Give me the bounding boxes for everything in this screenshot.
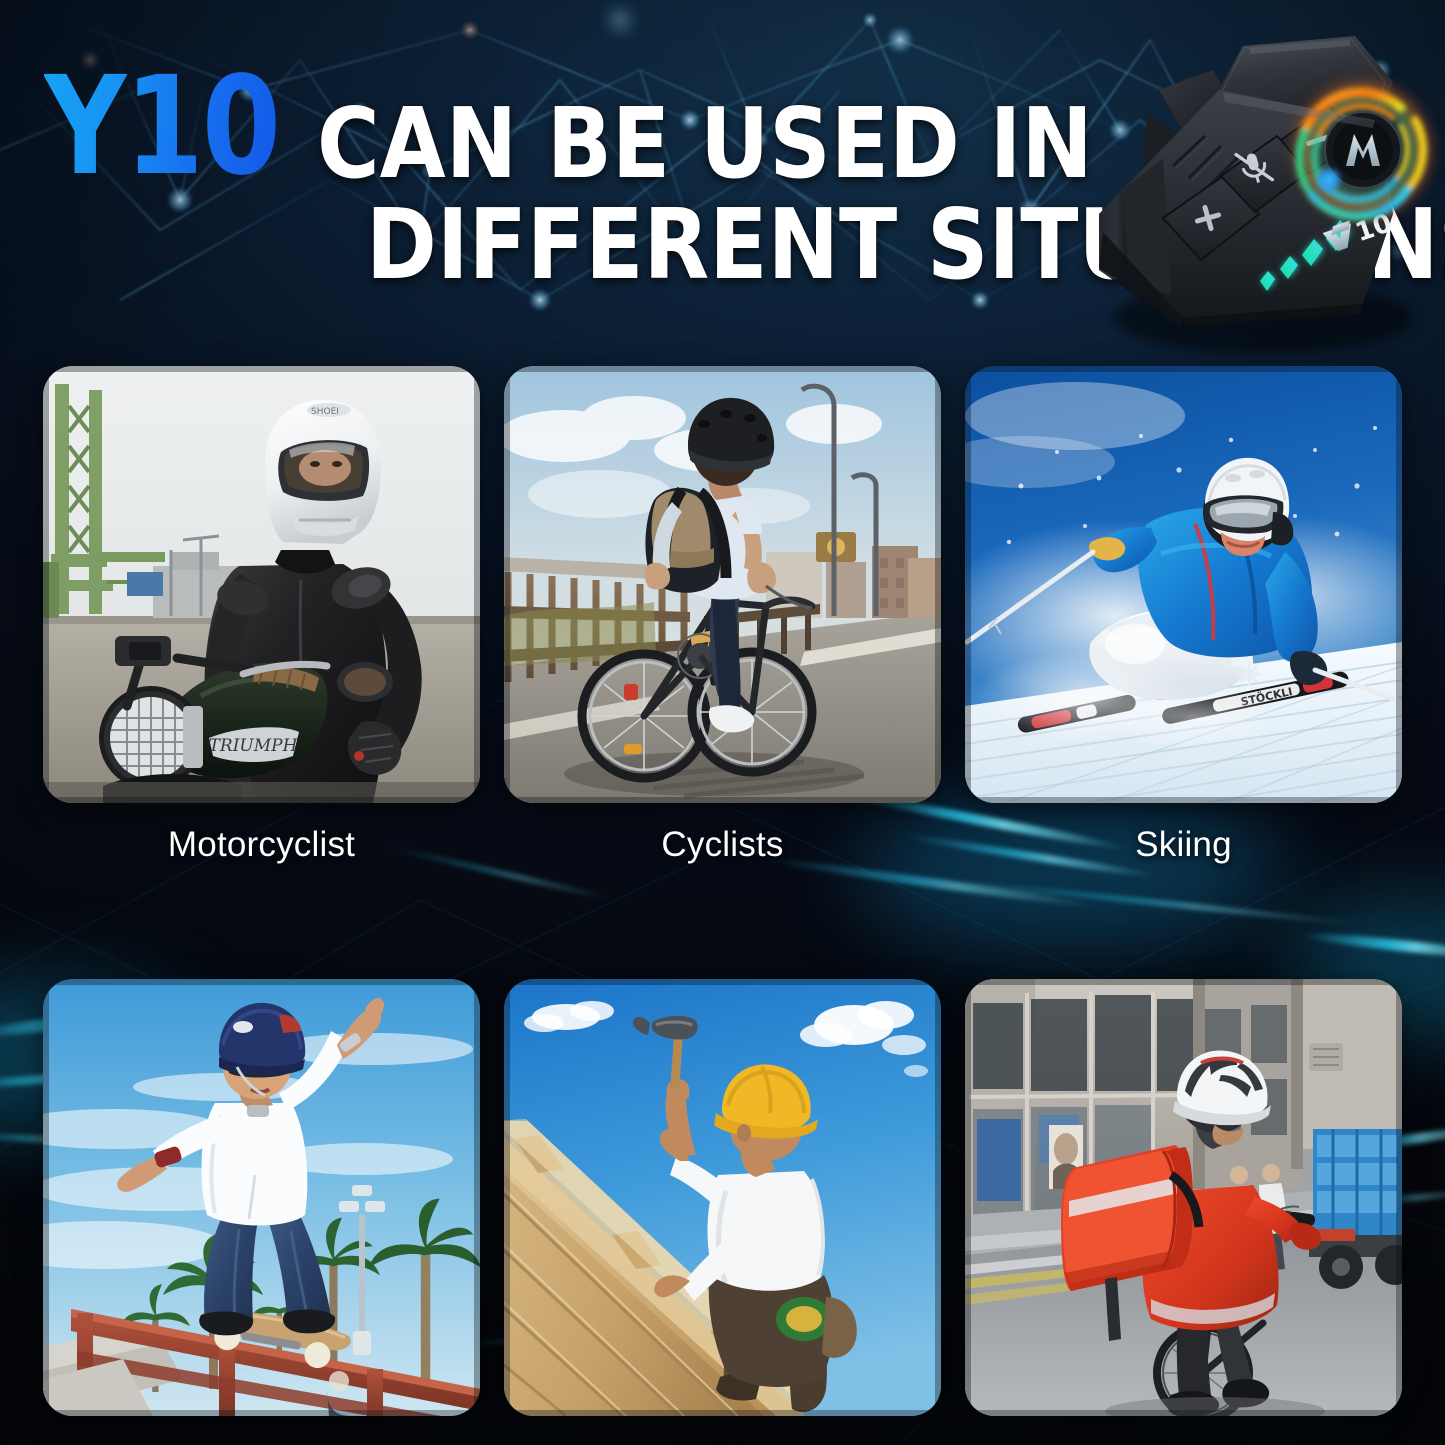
pairing-led: [1324, 175, 1334, 185]
scenario-cell-cyclists: Cyclists: [504, 366, 941, 865]
scenario-grid: SHOEI TRIUMPH: [43, 366, 1402, 1445]
svg-text:SHOEI: SHOEI: [311, 407, 339, 417]
caption-skiing: Skiing: [965, 825, 1402, 865]
headline-block: Y10 CAN BE USED IN DIFFERENT SITUATIONS: [44, 62, 1124, 293]
headline-line-1: CAN BE USED IN: [317, 98, 1093, 190]
skateboarder-photo: [43, 979, 480, 1416]
product-device-image: 10: [1063, 18, 1445, 370]
rgb-logo-ring-button: [1291, 78, 1435, 222]
skiing-photo: STÖCKLI: [965, 366, 1402, 803]
product-infographic-poster: Y10 CAN BE USED IN DIFFERENT SITUATIONS: [0, 0, 1445, 1445]
scenario-row-2: Skateboarder: [43, 979, 1402, 1445]
scenario-cell-motorcyclist: SHOEI TRIUMPH: [43, 366, 480, 865]
caption-cyclists: Cyclists: [504, 825, 941, 865]
caption-motorcyclist: Motorcyclist: [43, 825, 480, 865]
delivery-man-photo: [965, 979, 1402, 1416]
scenario-cell-skiing: STÖCKLI: [965, 366, 1402, 865]
builder-photo: [504, 979, 941, 1416]
cyclists-photo: [504, 366, 941, 803]
motorcyclist-photo: SHOEI TRIUMPH: [43, 366, 480, 803]
scenario-cell-delivery-man: Delivery Man: [965, 979, 1402, 1445]
scenario-row-1: SHOEI TRIUMPH: [43, 366, 1402, 865]
svg-text:TRIUMPH: TRIUMPH: [209, 736, 299, 756]
headline-line-2: DIFFERENT SITUATIONS: [366, 196, 1033, 293]
brand-model-title: Y10: [44, 65, 285, 190]
scenario-cell-skateboarder: Skateboarder: [43, 979, 480, 1445]
scenario-cell-builder: Builder: [504, 979, 941, 1445]
